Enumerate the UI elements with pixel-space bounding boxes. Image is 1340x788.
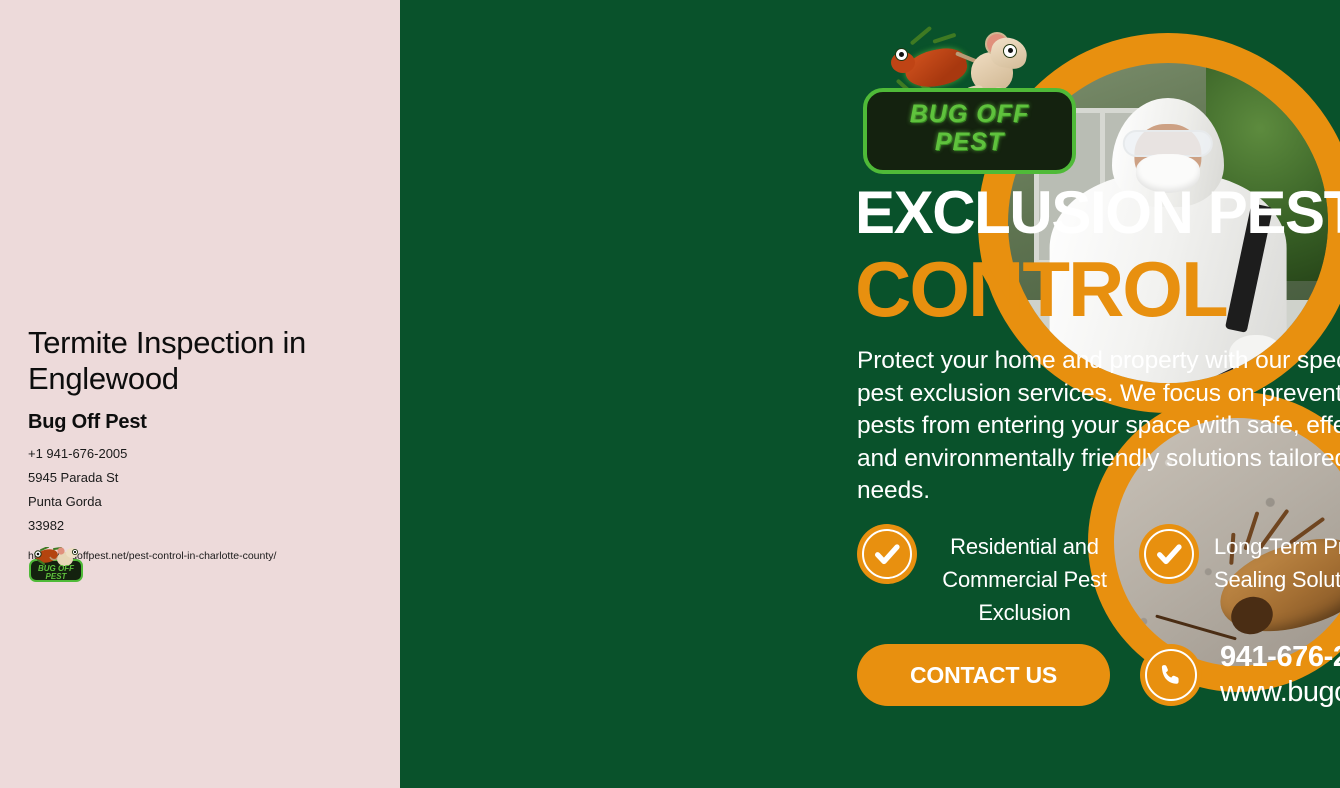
marketing-poster: Termite Inspection in Englewood Bug Off …	[0, 0, 1340, 788]
sidebar-content: Termite Inspection in Englewood Bug Off …	[28, 325, 376, 564]
hero-heading-secondary: CONTROL	[855, 246, 1340, 332]
hero-description: Protect your home and property with our …	[857, 345, 1340, 508]
brand-logo: BUG OFF PEST	[863, 26, 1068, 174]
page-title: Termite Inspection in Englewood	[28, 325, 376, 397]
business-city: Punta Gorda	[28, 492, 376, 512]
contact-website[interactable]: www.bugoffpest.net	[1220, 674, 1340, 710]
contact-phone-number[interactable]: 941-676-2005	[1220, 640, 1340, 674]
logo-text-line2: PEST	[867, 128, 1072, 157]
svg-text:PEST: PEST	[46, 572, 68, 581]
contact-us-button[interactable]: CONTACT US	[857, 644, 1110, 706]
hero-heading-primary: EXCLUSION PEST	[855, 180, 1340, 246]
feature-list: Residential and Commercial Pest Exclusio…	[857, 524, 1340, 629]
feature-label: Long-Term Prevention and Sealing Solutio…	[1214, 524, 1340, 596]
feature-item: Long-Term Prevention and Sealing Solutio…	[1139, 524, 1340, 629]
check-icon	[857, 524, 917, 584]
business-zip: 33982	[28, 516, 376, 536]
business-street: 5945 Parada St	[28, 468, 376, 488]
feature-item: Residential and Commercial Pest Exclusio…	[857, 524, 1117, 629]
contact-block: 941-676-2005 www.bugoffpest.net	[1140, 640, 1340, 710]
contact-lines: 941-676-2005 www.bugoffpest.net	[1220, 640, 1340, 710]
cta-row: CONTACT US 941-676-2005 www.bugoffpest.n…	[857, 640, 1340, 710]
sidebar-brand-logo-icon: BUG OFF PEST	[28, 547, 84, 582]
logo-plate: BUG OFF PEST	[863, 88, 1076, 174]
business-info-sidebar: Termite Inspection in Englewood Bug Off …	[0, 0, 400, 788]
phone-icon[interactable]	[1140, 644, 1202, 706]
logo-text-line1: BUG OFF	[867, 100, 1072, 129]
feature-label: Residential and Commercial Pest Exclusio…	[932, 524, 1117, 629]
business-phone: +1 941-676-2005	[28, 444, 376, 464]
hero-panel: BUG OFF PEST EXCLUSION PEST CONTROL Prot…	[400, 0, 1340, 788]
business-name: Bug Off Pest	[28, 411, 376, 434]
check-icon	[1139, 524, 1199, 584]
